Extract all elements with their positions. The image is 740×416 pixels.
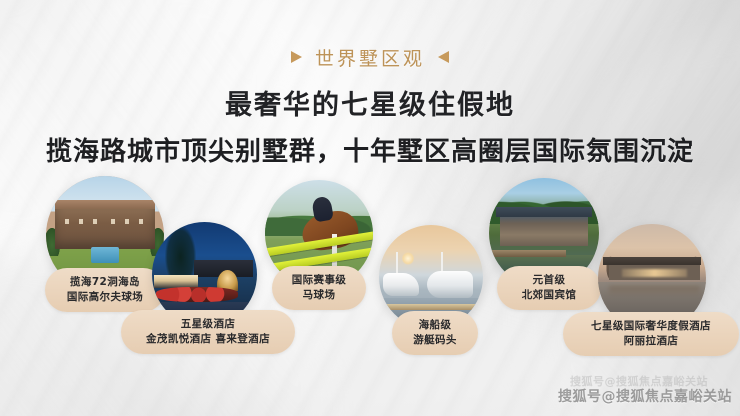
label-line-2: 游艇码头 [404,333,466,348]
eyebrow-row: 世界墅区观 [0,44,740,70]
headline-line-2: 揽海路城市顶尖别墅群，十年墅区高圈层国际氛围沉淀 [0,131,740,168]
label-line-1: 元首级 [509,273,589,288]
showcase-label-hotel: 五星级酒店 金茂凯悦酒店 喜来登酒店 [121,310,295,354]
showcase-label-guesthouse: 元首级 北郊国宾馆 [497,266,601,310]
showcase-label-golf: 揽海72洞海岛 国际高尔夫球场 [45,268,165,312]
showcase-item-polo: 国际赛事级 马球场 [265,180,373,288]
watermark-primary: 搜狐号@搜狐焦点嘉峪关站 [558,386,732,406]
showcase-item-yacht-marina: 海船级 游艇码头 [379,225,483,329]
showcase-label-marina: 海船级 游艇码头 [392,311,478,355]
arrow-left-icon [438,51,449,63]
label-line-2: 马球场 [284,288,354,303]
showcase-label-alila: 七星级国际奢华度假酒店 阿丽拉酒店 [563,312,739,356]
arrow-right-icon [291,51,302,63]
label-line-1: 国际赛事级 [284,273,354,288]
poster-canvas: 世界墅区观 最奢华的七星级住假地 揽海路城市顶尖别墅群，十年墅区高圈层国际氛围沉… [0,0,740,416]
showcase-label-polo: 国际赛事级 马球场 [272,266,366,310]
showcase-item-five-star-hotel: 五星级酒店 金茂凯悦酒店 喜来登酒店 [152,222,257,327]
label-line-2: 国际高尔夫球场 [57,290,153,305]
label-line-2: 金茂凯悦酒店 喜来登酒店 [133,332,283,347]
showcase-item-state-guesthouse: 元首级 北郊国宾馆 [489,178,599,288]
label-line-1: 揽海72洞海岛 [57,275,153,290]
label-line-1: 七星级国际奢华度假酒店 [575,319,727,334]
label-line-1: 五星级酒店 [133,317,283,332]
label-line-2: 阿丽拉酒店 [575,334,727,349]
eyebrow-text: 世界墅区观 [315,44,425,71]
headline-line-1: 最奢华的七星级住假地 [0,83,740,122]
showcase-item-alila-resort: 七星级国际奢华度假酒店 阿丽拉酒店 [598,224,706,332]
headline-block: 世界墅区观 最奢华的七星级住假地 揽海路城市顶尖别墅群，十年墅区高圈层国际氛围沉… [0,0,740,168]
showcase-item-golf: 揽海72洞海岛 国际高尔夫球场 [46,176,164,294]
label-line-2: 北郊国宾馆 [509,288,589,303]
label-line-1: 海船级 [404,318,466,333]
